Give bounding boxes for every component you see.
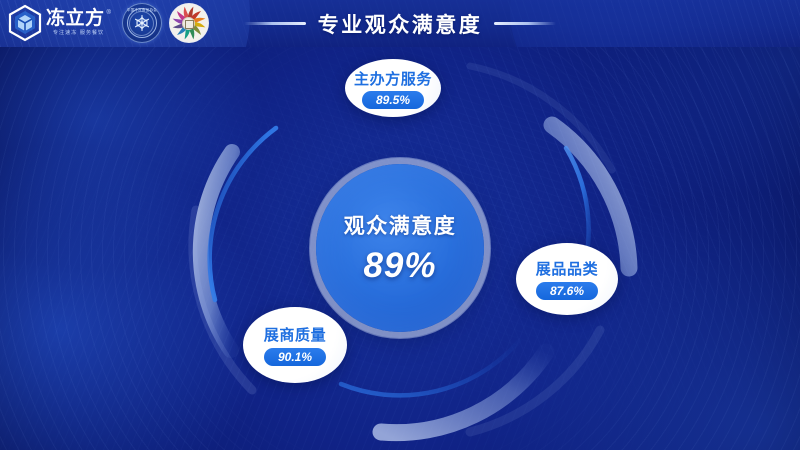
hexagon-cube-icon [8, 4, 42, 42]
emblem-ring-text: 中国冷冻食品协会 [127, 7, 157, 12]
infographic-slide: 专业观众满意度 冻立方 ® 专注速冻 服务餐饮 中国冷冻食 [0, 0, 800, 450]
center-label: 观众满意度 [344, 210, 457, 240]
brand-logo[interactable]: 冻立方 ® 专注速冻 服务餐饮 [8, 4, 115, 42]
center-value: 89% [363, 246, 436, 286]
title-rule-left-icon [244, 22, 306, 25]
badge-exhibitor-quality[interactable]: 展商质量 90.1% [243, 307, 347, 383]
badge-label: 展品品类 [536, 258, 598, 279]
colorful-swirl-emblem-icon[interactable] [169, 3, 209, 43]
badge-organizer-service[interactable]: 主办方服务 89.5% [345, 59, 441, 117]
badge-label: 展商质量 [264, 324, 326, 345]
snowflake-emblem-icon[interactable]: 中国冷冻食品协会 [122, 3, 162, 43]
brand-name: 冻立方 [46, 9, 105, 28]
title-rule-right-icon [494, 22, 556, 25]
brand-text-block: 冻立方 ® 专注速冻 服务餐饮 [46, 9, 111, 36]
logo-cluster: 冻立方 ® 专注速冻 服务餐饮 中国冷冻食品协会 [8, 3, 209, 43]
badge-value-pill: 87.6% [536, 282, 598, 300]
badge-exhibit-category[interactable]: 展品品类 87.6% [516, 243, 618, 315]
brand-tagline: 专注速冻 服务餐饮 [46, 31, 111, 36]
badge-label: 主办方服务 [354, 68, 432, 89]
brand-name-row: 冻立方 ® [46, 9, 111, 28]
emblem-hub-icon [182, 17, 195, 30]
badge-value-pill: 90.1% [264, 348, 326, 366]
center-score-circle[interactable]: 观众满意度 89% [316, 164, 484, 332]
badge-value-pill: 89.5% [362, 91, 424, 109]
registered-mark: ® [107, 10, 111, 16]
page-title: 专业观众满意度 [318, 9, 483, 39]
snowflake-glyph-icon [132, 13, 152, 33]
